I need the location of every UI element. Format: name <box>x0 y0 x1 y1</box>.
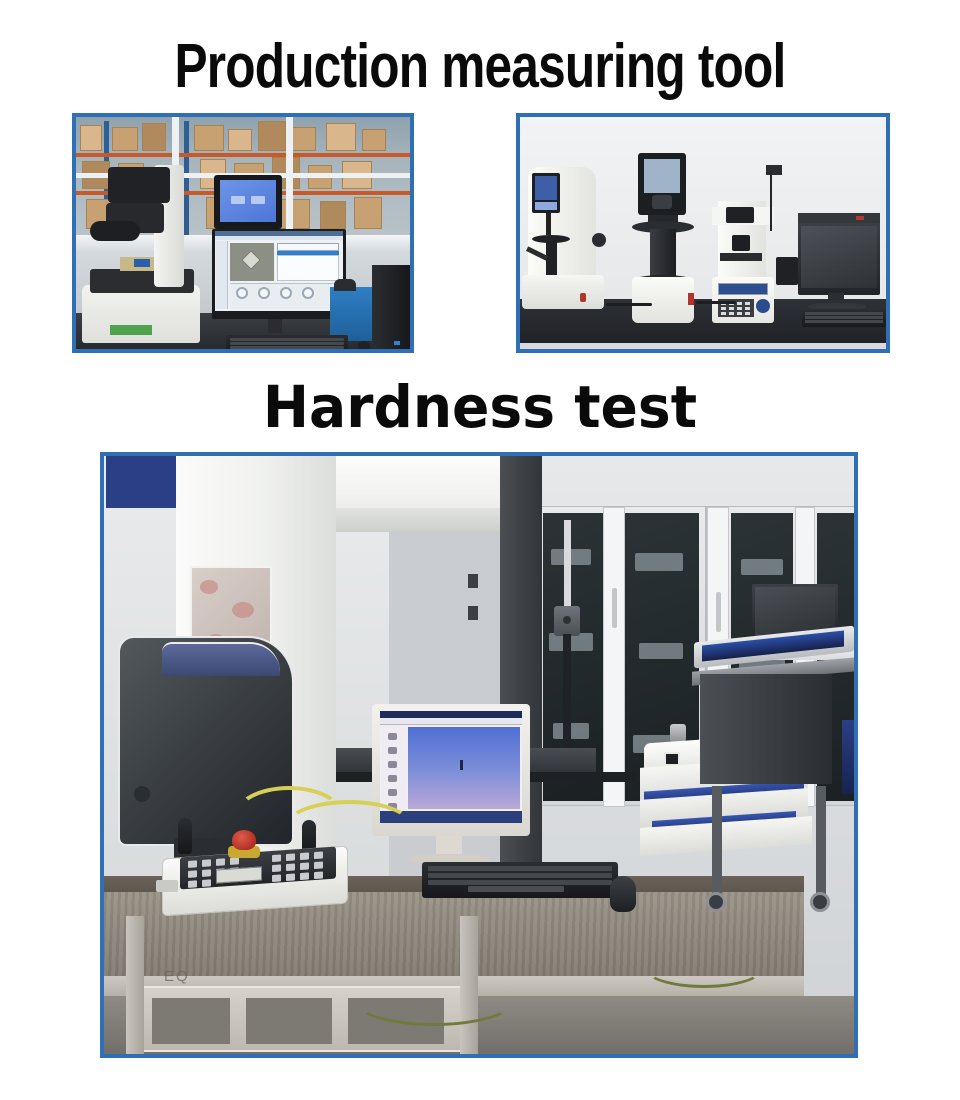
floor-cable <box>354 976 514 1026</box>
blue-control-cabinet <box>330 287 374 341</box>
floor <box>520 343 886 349</box>
warehouse-carton <box>228 129 252 151</box>
warehouse-carton <box>354 197 382 229</box>
warehouse-carton <box>290 127 316 151</box>
machine-connector-port <box>664 752 680 766</box>
touch-display-screen[interactable] <box>220 180 276 222</box>
touch-display-bezel <box>214 175 282 229</box>
specimen <box>134 259 150 267</box>
cmm-software-cursor <box>460 760 463 770</box>
poster-page: Production measuring tool <box>0 0 960 1100</box>
warehouse-rack-post <box>184 121 189 235</box>
brinell-controller-display[interactable] <box>638 153 686 215</box>
joystick-left[interactable] <box>178 818 192 854</box>
pendant-side-buttons[interactable] <box>156 880 178 892</box>
emergency-stop-button[interactable] <box>232 830 256 850</box>
vickers-lcd-readout <box>718 283 768 295</box>
equipment-label <box>110 325 152 335</box>
cmm-probe-shaft <box>564 520 571 610</box>
scene-microhardness <box>76 117 410 349</box>
display-button-right[interactable] <box>251 196 265 204</box>
warehouse-carton <box>280 199 310 229</box>
cmm-software-graphics-view[interactable] <box>408 727 520 809</box>
accessory-block <box>776 257 798 285</box>
cmm-probe-indicator <box>563 616 571 624</box>
scene-hardness-testers <box>520 117 886 349</box>
rockwell-load-knob[interactable] <box>592 233 606 247</box>
page-title-production-measuring-tool: Production measuring tool <box>96 36 864 98</box>
cmm-software-titlebar <box>380 711 522 718</box>
mouse[interactable] <box>358 341 370 349</box>
vickers-selector-dial[interactable] <box>756 299 770 313</box>
brinell-indicator-light <box>688 293 694 305</box>
warehouse-carton <box>112 127 138 151</box>
software-dial-1[interactable] <box>236 287 248 299</box>
monitor-screen[interactable] <box>801 226 877 288</box>
software-toolbar[interactable] <box>216 241 228 309</box>
power-cable <box>770 171 772 231</box>
cable-junction-box <box>766 165 782 175</box>
cmm-software-toolbar[interactable] <box>381 725 407 813</box>
cart-leg-left <box>712 786 722 896</box>
cabinet-handle[interactable] <box>716 592 721 632</box>
rockwell-spindle <box>546 213 551 235</box>
pc-power-led <box>394 341 400 345</box>
photo-microhardness-station <box>72 113 414 353</box>
floor-cable <box>644 948 764 988</box>
cabinet-door-frame[interactable] <box>603 507 625 807</box>
cabinet-top-module <box>334 279 356 291</box>
cart-caster-right <box>810 892 830 912</box>
rockwell-base <box>522 275 604 309</box>
software-menubar[interactable] <box>215 236 343 240</box>
keyboard[interactable] <box>422 862 618 898</box>
warehouse-carton <box>194 125 224 151</box>
cmm-probe-stem <box>563 634 571 754</box>
pc-tower <box>372 265 410 349</box>
brinell-column <box>650 229 676 281</box>
photo-cmm-hardness-lab: EQ <box>100 452 858 1058</box>
cart-caster-left <box>706 892 726 912</box>
keyboard[interactable] <box>226 335 348 349</box>
profile-projector-screen-hood <box>162 642 280 676</box>
rockwell-indicator-light <box>580 293 586 302</box>
brinell-base <box>632 277 694 323</box>
blue-equipment-case <box>842 720 854 794</box>
results-table-body[interactable] <box>277 255 339 281</box>
warehouse-carton <box>326 123 356 151</box>
cart-cabinet <box>700 674 832 784</box>
microscope-camera-head <box>108 167 170 203</box>
section-title-hardness-test: Hardness test <box>24 378 936 436</box>
bench-label: EQ <box>164 968 190 985</box>
warehouse-carton <box>142 123 166 151</box>
vickers-objective-turret[interactable] <box>726 207 754 223</box>
warehouse-carton <box>362 129 386 151</box>
door-hinge-upper <box>468 574 478 588</box>
bench-leg-left <box>126 916 144 1054</box>
rockwell-display[interactable] <box>532 173 560 213</box>
photo-hardness-tester-row <box>516 113 890 353</box>
warehouse-carton <box>320 201 346 229</box>
results-table-header <box>277 243 339 251</box>
rockwell-elevating-screw <box>546 241 557 277</box>
cmm-software-menubar[interactable] <box>380 718 522 725</box>
blue-machine-cover <box>106 456 178 508</box>
monitor-indicator <box>856 216 864 220</box>
software-dial-4[interactable] <box>302 287 314 299</box>
mouse[interactable] <box>610 876 636 912</box>
window-mullion <box>286 117 293 239</box>
microscope-eyepiece <box>90 221 140 241</box>
floor-cable <box>696 301 736 304</box>
floor-cable <box>606 303 652 306</box>
warehouse-carton <box>258 121 286 151</box>
cabinet-handle[interactable] <box>612 588 617 628</box>
software-dial-3[interactable] <box>280 287 292 299</box>
door-hinge-lower <box>468 606 478 620</box>
software-dial-2[interactable] <box>258 287 270 299</box>
warehouse-carton <box>80 125 102 151</box>
display-button-left[interactable] <box>231 196 245 204</box>
warehouse-rack-beam <box>76 153 410 157</box>
profile-projector-lens <box>134 786 150 802</box>
cart-leg-right <box>816 786 826 896</box>
keyboard[interactable] <box>802 309 886 327</box>
vickers-specimen-stage <box>720 253 762 261</box>
scene-cmm-lab: EQ <box>104 456 854 1054</box>
machine-clamp-knob-left[interactable] <box>670 724 686 742</box>
vickers-objective-lens <box>732 235 750 251</box>
